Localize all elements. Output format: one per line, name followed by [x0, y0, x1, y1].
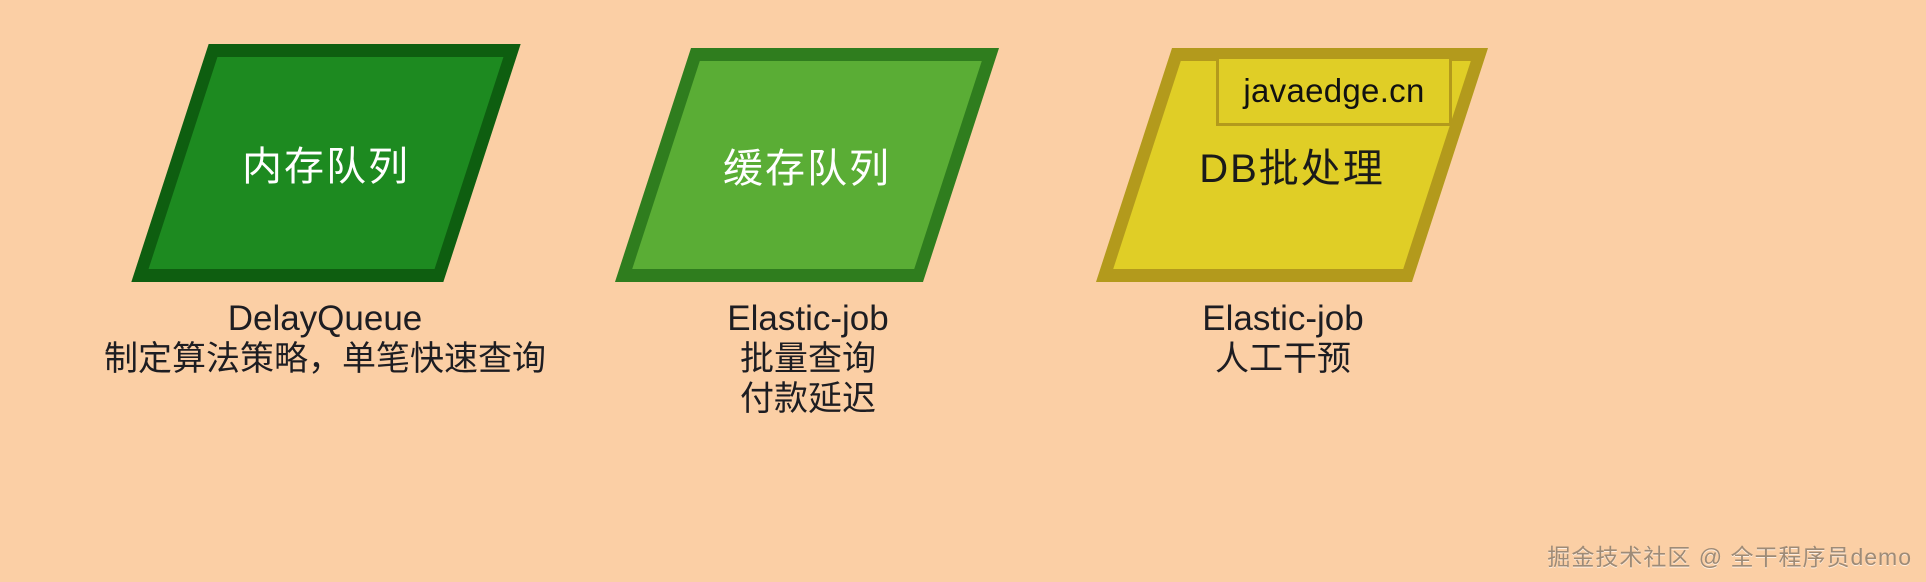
- caption-line: Elastic-job: [625, 298, 991, 339]
- diagram-canvas: 内存队列 DelayQueue 制定算法策略，单笔快速查询 缓存队列 Elast…: [0, 0, 1926, 582]
- caption-line: 制定算法策略，单笔快速查询: [60, 339, 590, 379]
- caption-line: Elastic-job: [1100, 298, 1466, 339]
- footer-watermark: 掘金技术社区 @ 全干程序员demo: [1547, 538, 1912, 572]
- site-watermark-box: javaedge.cn: [1216, 56, 1452, 126]
- caption-db-batch: Elastic-job 人工干预: [1100, 298, 1466, 379]
- node-cache-queue[interactable]: 缓存队列: [653, 48, 961, 282]
- site-watermark-text: javaedge.cn: [1243, 72, 1424, 110]
- parallelogram-memory-queue: [170, 44, 482, 282]
- caption-memory-queue: DelayQueue 制定算法策略，单笔快速查询: [60, 298, 590, 379]
- caption-line: DelayQueue: [60, 298, 590, 339]
- caption-line: 付款延迟: [625, 379, 991, 419]
- caption-line: 批量查询: [625, 339, 991, 379]
- node-memory-queue[interactable]: 内存队列: [170, 44, 482, 282]
- caption-line: 人工干预: [1100, 339, 1466, 379]
- parallelogram-cache-queue: [653, 48, 961, 282]
- caption-cache-queue: Elastic-job 批量查询 付款延迟: [625, 298, 991, 420]
